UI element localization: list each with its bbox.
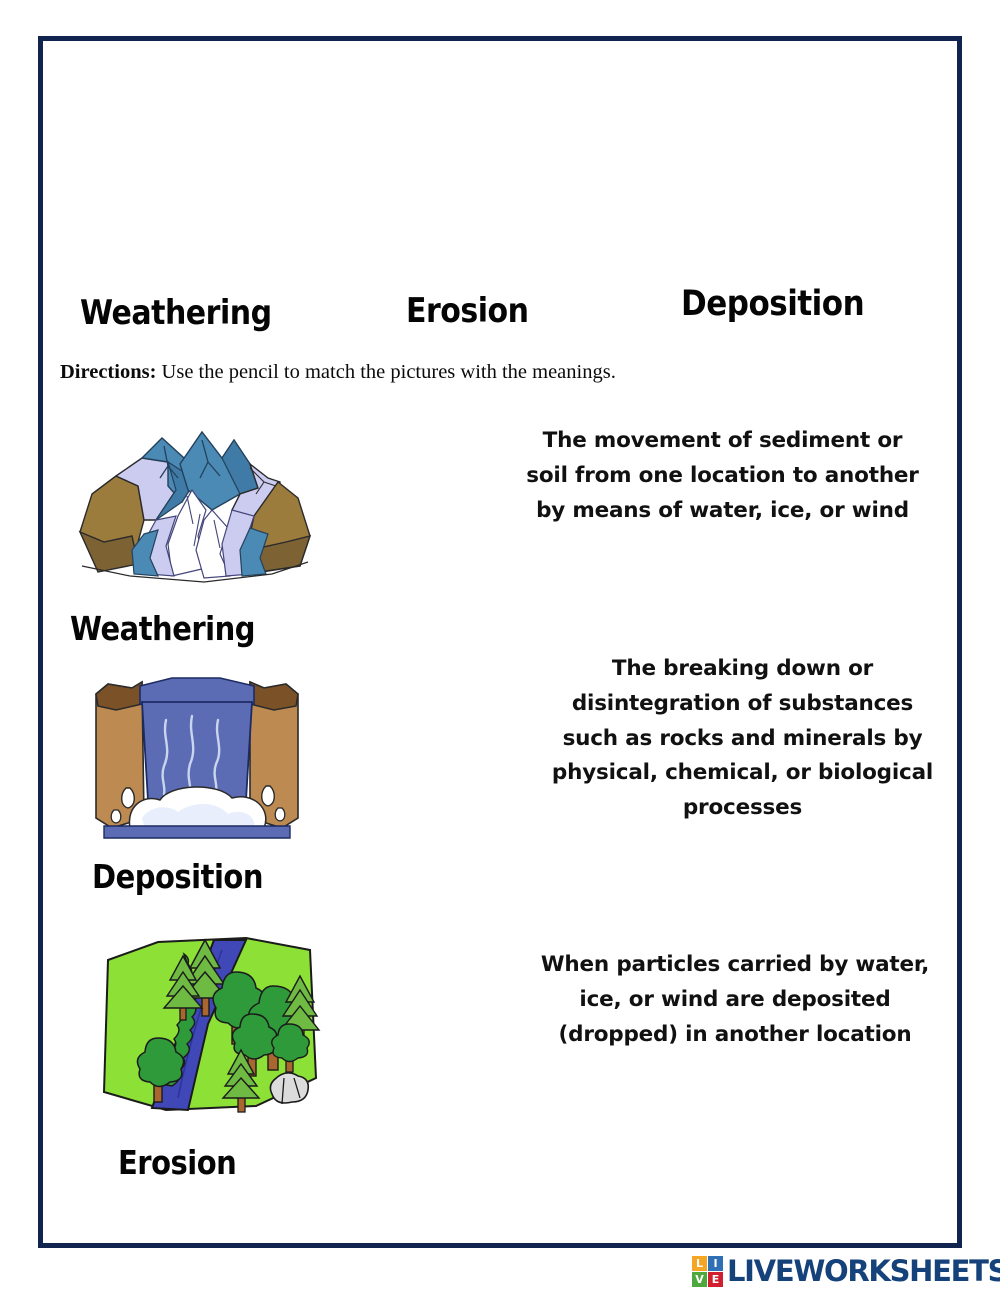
picture-label-deposition: Deposition	[92, 858, 430, 896]
picture-cell-erosion: Erosion	[0, 928, 430, 1178]
definition-text-erosion: The movement of sediment or soil from on…	[525, 424, 920, 528]
picture-label-weathering: Weathering	[70, 610, 430, 648]
liveworksheets-logo-mark-icon: L I V E	[692, 1256, 723, 1287]
term-heading-deposition: Deposition	[681, 284, 864, 324]
liveworksheets-logo[interactable]: L I V E LIVEWORKSHEETS	[692, 1256, 1000, 1287]
logo-tile-l: L	[692, 1256, 707, 1271]
logo-tile-i: I	[708, 1256, 723, 1271]
definition-text-weathering: The breaking down or disintegration of s…	[545, 652, 940, 826]
mountain-glacier-icon	[72, 424, 318, 590]
directions-text: Use the pencil to match the pictures wit…	[156, 361, 615, 383]
term-heading-weathering: Weathering	[80, 294, 272, 333]
directions-line: Directions: Use the pencil to match the …	[60, 361, 616, 384]
river-landscape-icon	[96, 928, 324, 1120]
directions-label: Directions:	[60, 361, 156, 383]
picture-cell-weathering: Weathering	[0, 424, 430, 644]
logo-tile-v: V	[692, 1272, 707, 1287]
picture-cell-deposition: Deposition	[0, 668, 430, 892]
picture-label-erosion: Erosion	[118, 1144, 430, 1182]
definition-text-deposition: When particles carried by water, ice, or…	[540, 948, 930, 1052]
term-heading-erosion: Erosion	[406, 292, 529, 331]
logo-tile-e: E	[708, 1272, 723, 1287]
waterfall-icon	[86, 668, 308, 840]
liveworksheets-wordmark: LIVEWORKSHEETS	[727, 1257, 1000, 1286]
